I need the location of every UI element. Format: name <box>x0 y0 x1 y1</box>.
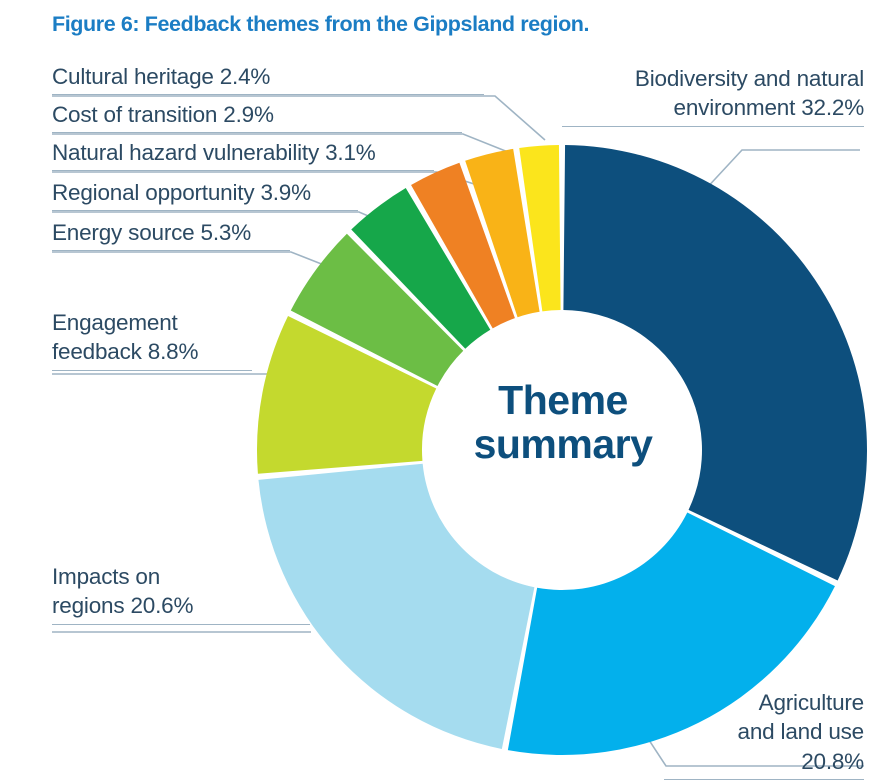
callout-biodiversity-and-natural-environment: Biodiversity and natural environment 32.… <box>562 64 864 127</box>
figure-container: Figure 6: Feedback themes from the Gipps… <box>0 0 884 783</box>
callout-natural-hazard-vulnerability: Natural hazard vulnerability 3.1% <box>52 138 434 171</box>
donut-slice[interactable] <box>563 145 867 581</box>
donut-center-label: Theme summary <box>432 378 694 467</box>
leader-energy <box>52 252 352 276</box>
callout-regional-opportunity: Regional opportunity 3.9% <box>52 178 358 211</box>
callout-cultural-heritage: Cultural heritage 2.4% <box>52 62 484 95</box>
callout-impacts-on-regions: Impacts on regions 20.6% <box>52 562 310 625</box>
callout-cost-of-transition: Cost of transition 2.9% <box>52 100 462 133</box>
callout-engagement-feedback: Engagement feedback 8.8% <box>52 308 252 371</box>
callout-energy-source: Energy source 5.3% <box>52 218 290 251</box>
callout-agriculture-and-land-use: Agriculture and land use 20.8% <box>664 688 864 780</box>
